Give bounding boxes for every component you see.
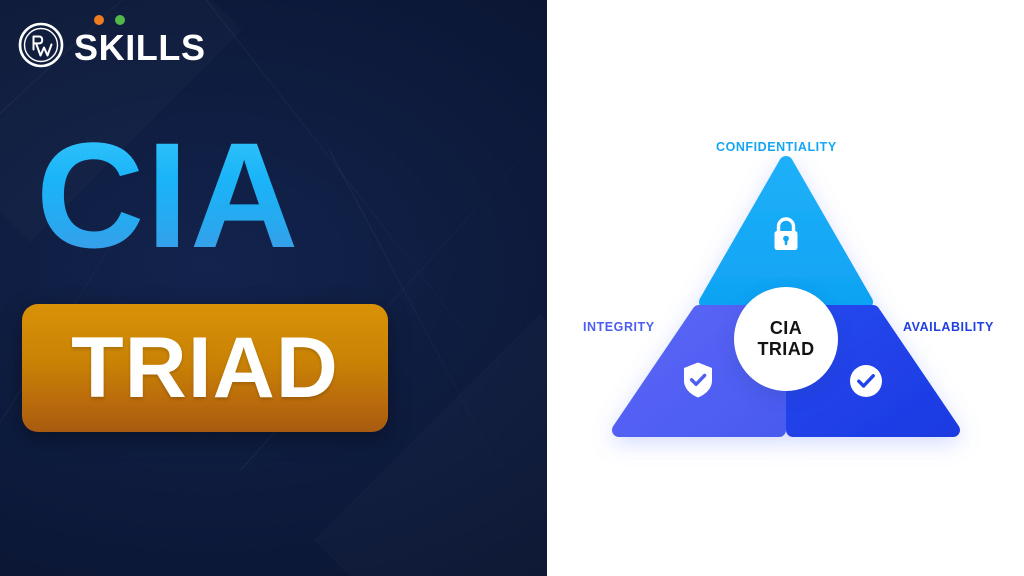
shield-check-icon	[682, 361, 714, 404]
brand-wordmark: SKILLS	[74, 30, 206, 66]
subtitle-banner-label: TRIAD	[71, 325, 339, 411]
subtitle-banner: TRIAD	[22, 304, 388, 432]
center-badge-line-2: TRIAD	[758, 339, 815, 360]
diagram-center-badge: CIA TRIAD	[734, 287, 838, 391]
page-title: CIA	[36, 126, 300, 264]
skills-wordmark-wrap: SKILLS	[74, 24, 206, 66]
right-diagram-panel: CONFIDENTIALITY INTEGRITY AVAILABILITY	[547, 0, 1024, 576]
segment-label-confidentiality: CONFIDENTIALITY	[716, 140, 837, 154]
brand-logo: SKILLS	[18, 22, 206, 68]
pw-circle-logo-icon	[18, 22, 64, 68]
left-title-panel: SKILLS CIA TRIAD	[0, 0, 547, 576]
brand-dot-orange-icon	[94, 15, 104, 25]
slide-canvas: SKILLS CIA TRIAD	[0, 0, 1024, 576]
segment-label-availability: AVAILABILITY	[903, 320, 994, 334]
center-badge-line-1: CIA	[770, 318, 802, 339]
brand-dots	[94, 15, 125, 25]
lock-icon	[770, 216, 802, 259]
brand-dot-green-icon	[115, 15, 125, 25]
segment-label-integrity: INTEGRITY	[583, 320, 655, 334]
check-circle-icon	[849, 364, 883, 403]
